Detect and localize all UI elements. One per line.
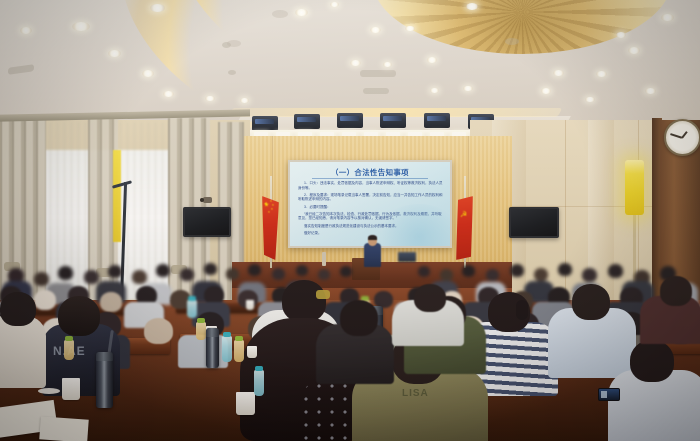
wall-monitor-left [183, 207, 231, 237]
paper-cup [247, 346, 257, 358]
slide-heading-rule [312, 178, 428, 179]
downlight [370, 27, 381, 33]
ceiling-speaker [227, 40, 241, 47]
ceiling-vent [8, 64, 34, 75]
water-bottle [196, 322, 206, 340]
paper-cup [62, 378, 80, 400]
water-bottle [234, 340, 244, 362]
documents [39, 416, 88, 441]
ceiling-sensor [228, 70, 236, 75]
slide-body: 1．口头：违法事实、处罚依据及内容，当事人陈述申辩权、听证权等救济权利，执法人员… [298, 181, 444, 238]
downlight [163, 91, 174, 97]
communist-party-flag: ☭ [456, 196, 473, 260]
attendee-head [0, 292, 36, 326]
downlight [541, 88, 551, 94]
speaker-torso [364, 243, 381, 267]
downlight [585, 97, 595, 102]
downlight [295, 9, 308, 16]
ceiling-vent [360, 70, 396, 77]
downlight [20, 27, 32, 34]
ceiling-vent [363, 88, 389, 94]
water-bottle [222, 336, 232, 362]
ceiling-speaker [272, 10, 288, 18]
downlight [661, 14, 674, 21]
downlight [427, 57, 437, 63]
wall-clock [664, 119, 700, 156]
hammer-sickle-icon: ☭ [460, 210, 469, 219]
cup-lid [38, 388, 60, 394]
ceiling-spotlight [424, 113, 450, 128]
downlight [628, 47, 640, 54]
slide-line: 落实告知制度是行政执法规范化建设与执法公示的基本要求。 [298, 224, 444, 229]
spotlight-rail [252, 112, 500, 128]
downlight [108, 50, 121, 57]
water-bottle [254, 370, 264, 396]
hair-clip [316, 290, 330, 299]
slide-line: 2．程序及要求：现场笔录记载当事人签署，决定前告知，应当一并告知工作人员的权利和… [298, 193, 444, 202]
attendee-head [144, 318, 173, 344]
ceiling-spotlight [337, 113, 363, 128]
downlight [430, 88, 439, 93]
attendee-head [660, 276, 692, 306]
downlight [553, 70, 564, 76]
attendee-head [282, 280, 326, 322]
downlight [596, 71, 607, 77]
attendee-head [340, 300, 378, 336]
downlight [205, 96, 215, 101]
projection-screen: （一）合法性告知事项 1．口头：违法事实、处罚依据及内容，当事人陈述申辩权、听证… [290, 162, 450, 246]
vacuum-flask [96, 352, 113, 408]
camera-icon [203, 197, 212, 203]
downlight [142, 70, 154, 77]
downlight [150, 4, 165, 12]
downlight [645, 88, 656, 94]
downlight [72, 22, 90, 31]
downlight [405, 26, 415, 31]
water-bottle [64, 340, 74, 360]
conference-hall-photo: （一）合法性告知事项 1．口头：违法事实、处罚依据及内容，当事人陈述申辩权、听证… [0, 0, 700, 441]
ceiling-spotlight [252, 116, 278, 131]
shirt-text: LISA [402, 388, 429, 399]
wall-monitor-right [509, 207, 559, 238]
attendee-head [630, 340, 674, 382]
attendee-head [414, 284, 446, 312]
attendee-torso [178, 335, 228, 368]
slide-line: 3．必要时提醒： [298, 205, 444, 210]
downlight [330, 2, 339, 7]
downlight [463, 86, 473, 91]
downlight [240, 98, 249, 103]
slide-heading: （一）合法性告知事项 [290, 167, 450, 178]
slide-line: “我已经二次告知本次执法、检查、行政处罚依据、行为及依据、救济权利及期限，并听取… [298, 212, 444, 221]
ceiling-speaker [505, 38, 519, 45]
downlight [616, 32, 626, 38]
mobile-phone[interactable] [598, 388, 620, 401]
downlight [466, 3, 478, 10]
vacuum-flask [206, 328, 219, 368]
ceiling-spotlight [294, 114, 320, 129]
attendee-head [58, 296, 100, 336]
attendee-head [572, 284, 610, 320]
downlight [383, 62, 392, 67]
ceiling-spotlight [380, 113, 406, 128]
yellow-banner [113, 150, 121, 242]
slide-line: 1．口头：违法事实、处罚依据及内容，当事人陈述申辩权、听证权等救济权利，执法人员… [298, 181, 444, 190]
paper-cup [236, 392, 255, 415]
downlight [350, 60, 361, 66]
attendee-torso [0, 316, 46, 388]
ponytail [516, 300, 528, 320]
microphone [322, 252, 326, 266]
speaker-hair [368, 235, 377, 240]
wall-sconce-light [625, 160, 644, 215]
podium-equipment [398, 252, 416, 262]
